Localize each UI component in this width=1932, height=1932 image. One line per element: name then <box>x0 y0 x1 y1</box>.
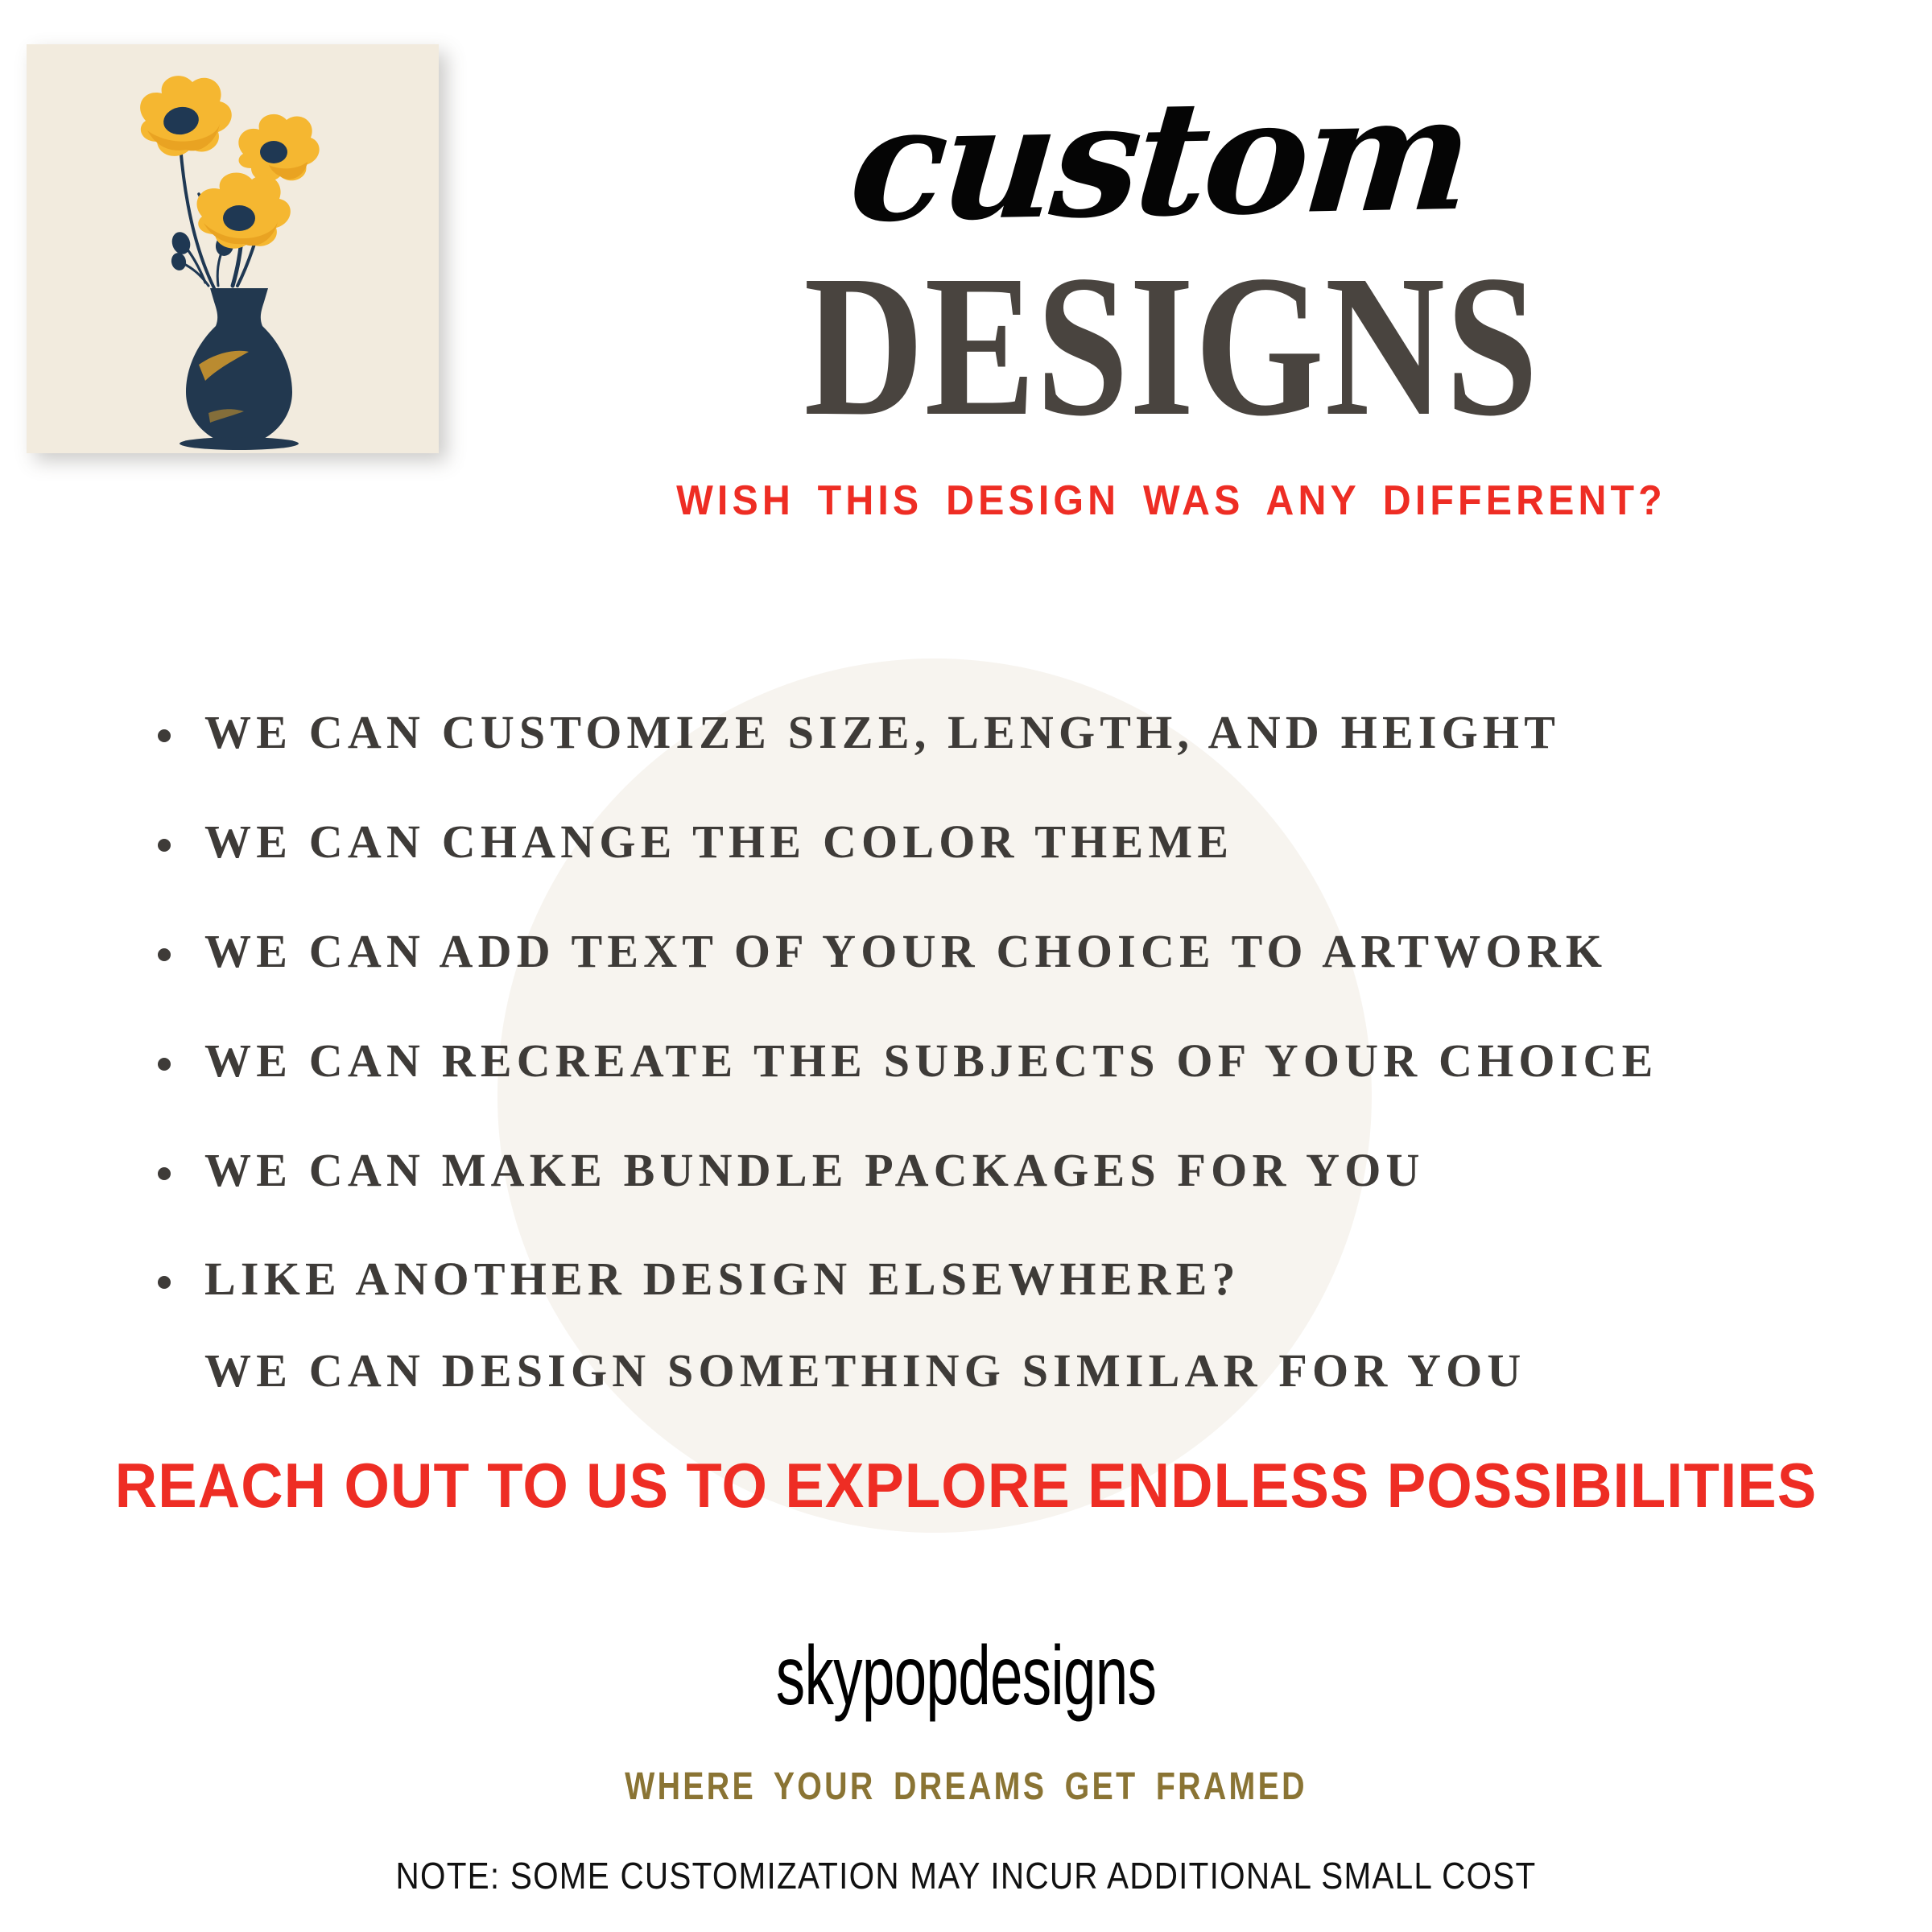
list-item: WE CAN CUSTOMIZE SIZE, LENGTH, AND HEIGH… <box>153 708 1851 758</box>
list-item: WE CAN CHANGE THE COLOR THEME <box>153 818 1851 867</box>
list-item-continuation: WE CAN DESIGN SOMETHING SIMILAR FOR YOU <box>153 1347 1851 1396</box>
list-item: LIKE ANOTHER DESIGN ELSEWHERE? <box>153 1255 1851 1304</box>
flowers-in-vase-illustration <box>27 44 439 453</box>
list-item: WE CAN ADD TEXT OF YOUR CHOICE TO ARTWOR… <box>153 927 1851 976</box>
page-script-title: custom <box>420 66 1898 252</box>
footer: skypopdesigns WHERE YOUR DREAMS GET FRAM… <box>0 1634 1932 1897</box>
call-to-action-text: REACH OUT TO US TO EXPLORE ENDLESS POSSI… <box>68 1449 1864 1522</box>
feature-list: WE CAN CUSTOMIZE SIZE, LENGTH, AND HEIGH… <box>153 708 1851 1456</box>
page-subtitle: WISH THIS DESIGN WAS ANY DIFFERENT? <box>502 477 1842 525</box>
footer-note: NOTE: SOME CUSTOMIZATION MAY INCUR ADDIT… <box>116 1854 1816 1897</box>
artwork-thumbnail <box>27 44 439 453</box>
list-item: WE CAN RECREATE THE SUBJECTS OF YOUR CHO… <box>153 1037 1851 1086</box>
headline-block: custom DESIGNS WISH THIS DESIGN WAS ANY … <box>451 80 1892 525</box>
brand-tagline: WHERE YOUR DREAMS GET FRAMED <box>174 1765 1758 1809</box>
page-title: DESIGNS <box>580 253 1762 440</box>
brand-logo-text: skypopdesigns <box>290 1634 1642 1718</box>
list-item: WE CAN MAKE BUNDLE PACKAGES FOR YOU <box>153 1146 1851 1195</box>
